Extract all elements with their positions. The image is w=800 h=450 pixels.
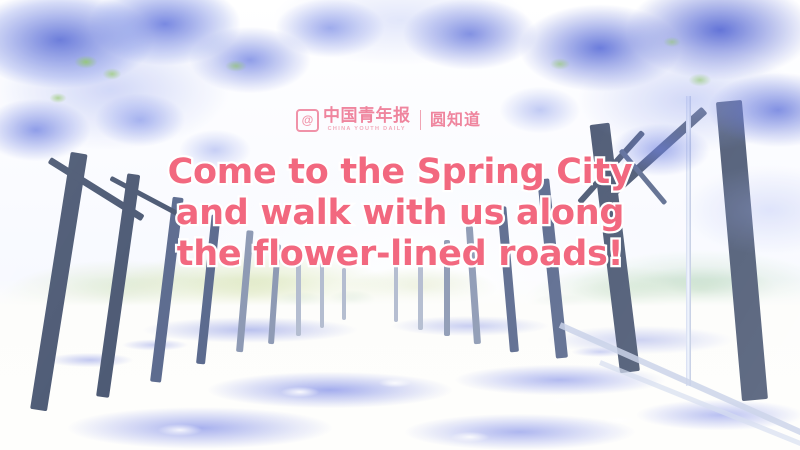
illustration-banner: @ 中国青年报 CHINA YOUTH DAILY 圆知道 Come to th…: [0, 0, 800, 450]
headline-line-1: Come to the Spring City: [0, 152, 800, 193]
headline: Come to the Spring City and walk with us…: [0, 152, 800, 275]
logo-brand-english: CHINA YOUTH DAILY: [323, 127, 411, 133]
logo-brand-chinese: 中国青年报: [323, 108, 411, 125]
at-symbol-icon: @: [296, 109, 319, 132]
logo-brand-group: @ 中国青年报 CHINA YOUTH DAILY: [296, 108, 411, 133]
watermark-logo: @ 中国青年报 CHINA YOUTH DAILY 圆知道: [296, 108, 481, 133]
headline-line-2: and walk with us along: [0, 193, 800, 234]
headline-line-3: the flower-lined roads!: [0, 234, 800, 275]
logo-sub-brand: 圆知道: [430, 112, 481, 128]
logo-brand-text-group: 中国青年报 CHINA YOUTH DAILY: [323, 108, 411, 133]
logo-divider: [420, 110, 422, 130]
